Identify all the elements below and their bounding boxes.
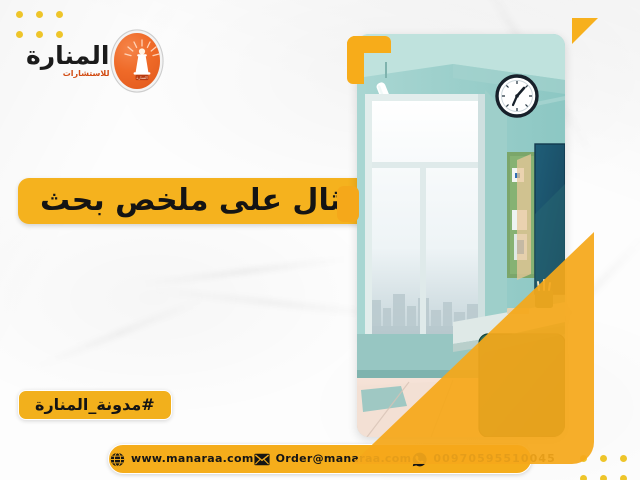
classroom-image xyxy=(357,34,565,437)
page-title: مثال على ملخص بحث xyxy=(40,184,361,218)
contact-whatsapp[interactable]: 00970595510045 xyxy=(411,451,556,467)
corner-bracket-icon xyxy=(347,36,391,84)
email-label: Order@manaraa.com xyxy=(276,453,412,465)
blog-tag-chip[interactable]: #مدونة_المنارة xyxy=(18,390,172,420)
badge-word: المنارة xyxy=(137,75,148,80)
brand-logo[interactable]: المنارة للاستشارات المنارة xyxy=(26,30,160,92)
promo-poster: المنارة للاستشارات المنارة xyxy=(0,0,640,480)
square-accent-icon xyxy=(337,186,359,222)
website-label: www.manaraa.com xyxy=(131,453,254,465)
contact-email[interactable]: Order@manaraa.com xyxy=(254,451,412,467)
envelope-icon xyxy=(254,451,270,467)
paper-crease xyxy=(35,297,204,370)
contact-website[interactable]: www.manaraa.com xyxy=(109,451,254,467)
logo-brand-name: المنارة xyxy=(26,43,109,68)
logo-tagline: للاستشارات xyxy=(63,69,110,79)
headline-banner: مثال على ملخص بحث xyxy=(18,178,383,224)
phone-label: 00970595510045 xyxy=(433,453,556,465)
globe-icon xyxy=(109,451,125,467)
paper-crease xyxy=(140,255,349,288)
blog-tag-label: #مدونة_المنارة xyxy=(35,396,155,414)
triangle-top-icon xyxy=(572,18,598,44)
lighthouse-icon: المنارة xyxy=(114,33,160,89)
dot-grid-bottom-right-icon xyxy=(580,455,627,480)
whatsapp-icon xyxy=(411,451,427,467)
contact-footer-bar: www.manaraa.com Order@manaraa.com 009705… xyxy=(108,444,532,474)
logo-wordmark: المنارة للاستشارات xyxy=(26,35,109,87)
